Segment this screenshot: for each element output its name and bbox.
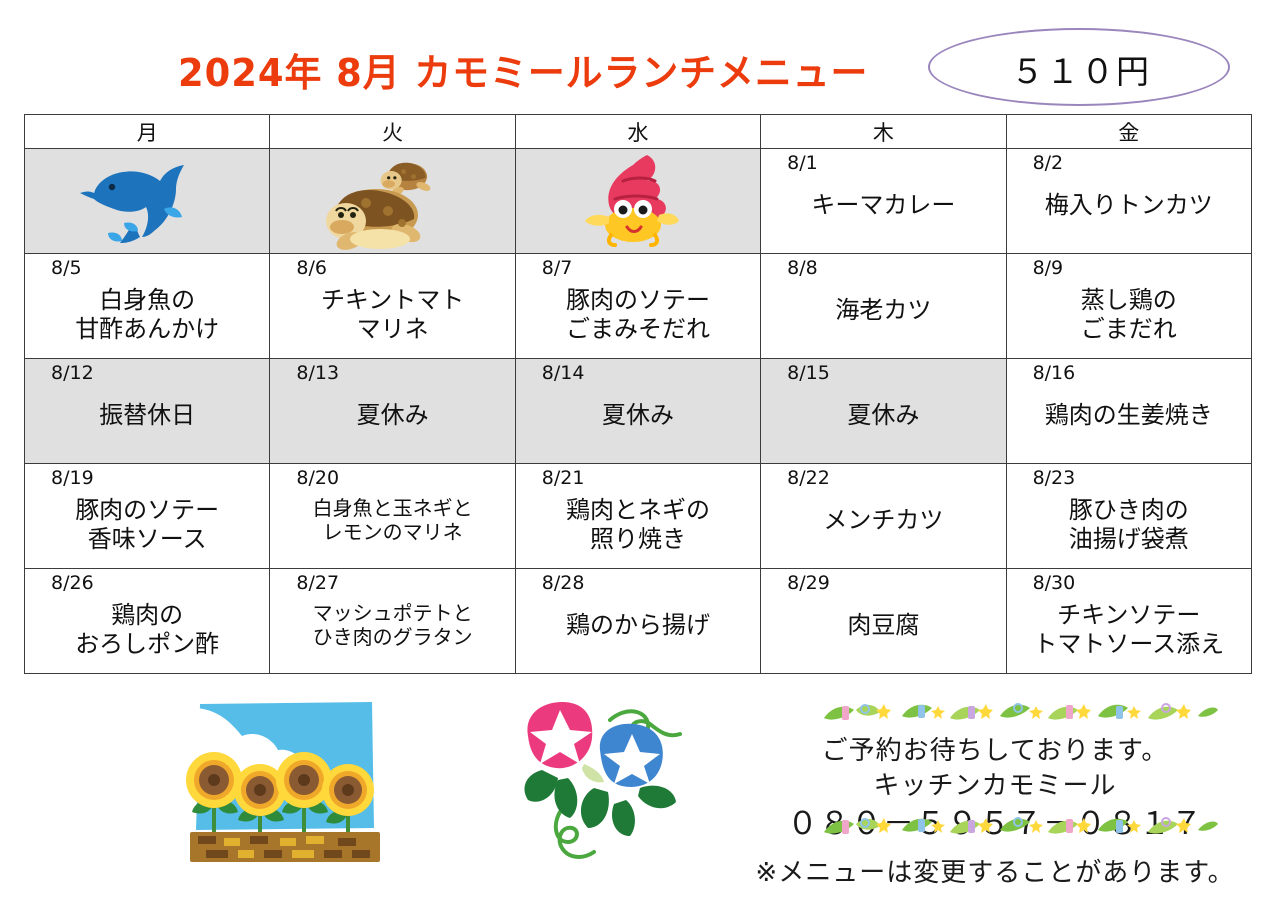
calendar-day-cell: 8/7豚肉のソテーごまみそだれ (515, 254, 760, 359)
menu-line: 照り焼き (520, 525, 756, 554)
menu-line: マリネ (274, 315, 510, 344)
day-date-label: 8/27 (270, 569, 514, 597)
day-menu-label: 豚肉のソテー香味ソース (25, 492, 269, 555)
menu-line: ごまみそだれ (520, 315, 756, 344)
menu-line: 夏休み (274, 401, 510, 430)
calendar-day-cell: 8/2梅入りトンカツ (1006, 149, 1251, 254)
day-date-label: 8/23 (1007, 464, 1251, 492)
reservation-message: ご予約お待ちしております。 (740, 730, 1250, 767)
calendar-day-cell: 8/15夏休み (761, 359, 1006, 464)
calendar-day-cell: 8/29肉豆腐 (761, 569, 1006, 674)
day-menu-label: チキントマトマリネ (270, 282, 514, 345)
day-date-label: 8/12 (25, 359, 269, 387)
day-menu-label: キーマカレー (761, 177, 1005, 220)
day-date-label: 8/20 (270, 464, 514, 492)
dolphin-icon (25, 149, 269, 253)
calendar-day-cell: 8/23豚ひき肉の油揚げ袋煮 (1006, 464, 1251, 569)
calendar-day-cell: 8/22メンチカツ (761, 464, 1006, 569)
morning-glory-illustration (498, 692, 698, 872)
day-menu-label: 白身魚と玉ネギとレモンのマリネ (270, 492, 514, 545)
day-date-label: 8/5 (25, 254, 269, 282)
menu-line: おろしポン酢 (29, 630, 265, 659)
day-date-label: 8/19 (25, 464, 269, 492)
menu-line: 夏休み (520, 401, 756, 430)
calendar-header-row-group: 月 火 水 木 金 (25, 115, 1252, 149)
calendar-day-cell: 8/16鶏肉の生姜焼き (1006, 359, 1251, 464)
calendar-day-cell: 8/28鶏のから揚げ (515, 569, 760, 674)
day-menu-label: 蒸し鶏のごまだれ (1007, 282, 1251, 345)
footer-contact-block: ご予約お待ちしております。 キッチンカモミール ０８０－５９５７－０８１７ (740, 700, 1250, 900)
day-menu-label: 鶏肉のおろしポン酢 (25, 597, 269, 660)
weekday-header-thu: 木 (761, 115, 1006, 149)
day-menu-label: 夏休み (516, 387, 760, 430)
day-menu-label: 海老カツ (761, 282, 1005, 325)
menu-line: 油揚げ袋煮 (1011, 525, 1247, 554)
day-menu-label: マッシュポテトとひき肉のグラタン (270, 597, 514, 650)
calendar-day-cell: 8/14夏休み (515, 359, 760, 464)
day-menu-label: 梅入りトンカツ (1007, 177, 1251, 220)
calendar-week-row: 8/12振替休日8/13夏休み8/14夏休み8/15夏休み8/16鶏肉の生姜焼き (25, 359, 1252, 464)
calendar-week-row: 8/1キーマカレー8/2梅入りトンカツ (25, 149, 1252, 254)
calendar-week-row: 8/5白身魚の甘酢あんかけ8/6チキントマトマリネ8/7豚肉のソテーごまみそだれ… (25, 254, 1252, 359)
menu-line: 豚肉のソテー (29, 496, 265, 525)
menu-line: 鶏のから揚げ (520, 611, 756, 640)
day-menu-label: 豚ひき肉の油揚げ袋煮 (1007, 492, 1251, 555)
menu-line: 鶏肉の生姜焼き (1011, 401, 1247, 430)
menu-line: 甘酢あんかけ (29, 315, 265, 344)
weekday-header-wed: 水 (515, 115, 760, 149)
menu-line: 夏休み (765, 401, 1001, 430)
menu-line: 梅入りトンカツ (1011, 191, 1247, 220)
hermit-crab-icon (516, 149, 760, 253)
day-date-label: 8/2 (1007, 149, 1251, 177)
menu-line: ひき肉のグラタン (274, 625, 510, 649)
menu-line: 鶏肉とネギの (520, 496, 756, 525)
weekday-header-mon: 月 (25, 115, 270, 149)
day-date-label: 8/8 (761, 254, 1005, 282)
calendar-day-cell: 8/19豚肉のソテー香味ソース (25, 464, 270, 569)
tanabata-decoration-top-icon (818, 700, 1218, 726)
sea-turtle-icon (270, 149, 514, 253)
menu-line: 鶏肉の (29, 601, 265, 630)
weekday-header-tue: 火 (270, 115, 515, 149)
menu-line: レモンのマリネ (274, 520, 510, 544)
day-menu-label: 鶏肉とネギの照り焼き (516, 492, 760, 555)
calendar-day-cell: 8/9蒸し鶏のごまだれ (1006, 254, 1251, 359)
menu-line: 肉豆腐 (765, 611, 1001, 640)
day-date-label: 8/14 (516, 359, 760, 387)
day-menu-label: 振替休日 (25, 387, 269, 430)
menu-line: トマトソース添え (1011, 630, 1247, 659)
day-date-label: 8/21 (516, 464, 760, 492)
price-badge-label: ５１０円 (930, 30, 1232, 108)
tanabata-decoration-bottom-icon (818, 814, 1218, 840)
calendar-day-cell: 8/30チキンソテートマトソース添え (1006, 569, 1251, 674)
menu-calendar-table: 月 火 水 木 金 (24, 114, 1252, 674)
calendar-illustration-cell (270, 149, 515, 254)
calendar-week-row: 8/26鶏肉のおろしポン酢8/27マッシュポテトとひき肉のグラタン8/28鶏のか… (25, 569, 1252, 674)
day-date-label: 8/16 (1007, 359, 1251, 387)
menu-line: チキンソテー (1011, 601, 1247, 630)
day-date-label: 8/26 (25, 569, 269, 597)
day-menu-label: 夏休み (270, 387, 514, 430)
menu-line: 豚肉のソテー (520, 286, 756, 315)
menu-line: 振替休日 (29, 401, 265, 430)
menu-line: 白身魚と玉ネギと (274, 496, 510, 520)
shop-name: キッチンカモミール (740, 765, 1250, 802)
calendar-day-cell: 8/21鶏肉とネギの照り焼き (515, 464, 760, 569)
menu-line: ごまだれ (1011, 315, 1247, 344)
menu-line: メンチカツ (765, 506, 1001, 535)
day-menu-label: 肉豆腐 (761, 597, 1005, 640)
menu-line: 海老カツ (765, 296, 1001, 325)
day-menu-label: チキンソテートマトソース添え (1007, 597, 1251, 660)
day-date-label: 8/22 (761, 464, 1005, 492)
calendar-day-cell: 8/1キーマカレー (761, 149, 1006, 254)
menu-line: キーマカレー (765, 191, 1001, 220)
day-menu-label: 鶏肉の生姜焼き (1007, 387, 1251, 430)
calendar-week-row: 8/19豚肉のソテー香味ソース8/20白身魚と玉ネギとレモンのマリネ8/21鶏肉… (25, 464, 1252, 569)
calendar-day-cell: 8/5白身魚の甘酢あんかけ (25, 254, 270, 359)
calendar-day-cell: 8/8海老カツ (761, 254, 1006, 359)
menu-line: 香味ソース (29, 525, 265, 554)
day-menu-label: 豚肉のソテーごまみそだれ (516, 282, 760, 345)
menu-change-note: ※メニューは変更することがあります。 (740, 852, 1250, 889)
price-badge: ５１０円 (928, 28, 1230, 106)
day-date-label: 8/15 (761, 359, 1005, 387)
day-date-label: 8/1 (761, 149, 1005, 177)
calendar-day-cell: 8/26鶏肉のおろしポン酢 (25, 569, 270, 674)
day-date-label: 8/6 (270, 254, 514, 282)
day-date-label: 8/13 (270, 359, 514, 387)
menu-line: チキントマト (274, 286, 510, 315)
day-menu-label: 夏休み (761, 387, 1005, 430)
day-date-label: 8/29 (761, 569, 1005, 597)
calendar-day-cell: 8/6チキントマトマリネ (270, 254, 515, 359)
day-date-label: 8/28 (516, 569, 760, 597)
calendar-header-row: 月 火 水 木 金 (25, 115, 1252, 149)
day-date-label: 8/9 (1007, 254, 1251, 282)
weekday-header-fri: 金 (1006, 115, 1251, 149)
sunflower-field-illustration (160, 698, 410, 868)
menu-line: 白身魚の (29, 286, 265, 315)
day-menu-label: メンチカツ (761, 492, 1005, 535)
calendar-day-cell: 8/13夏休み (270, 359, 515, 464)
page-title: 2024年 8月 カモミールランチメニュー (178, 42, 868, 97)
menu-line: マッシュポテトと (274, 601, 510, 625)
day-date-label: 8/30 (1007, 569, 1251, 597)
calendar-illustration-cell (515, 149, 760, 254)
calendar-day-cell: 8/27マッシュポテトとひき肉のグラタン (270, 569, 515, 674)
calendar-body: 8/1キーマカレー8/2梅入りトンカツ8/5白身魚の甘酢あんかけ8/6チキントマ… (25, 149, 1252, 674)
day-menu-label: 鶏のから揚げ (516, 597, 760, 640)
page-header: 2024年 8月 カモミールランチメニュー ５１０円 (0, 0, 1280, 112)
menu-line: 豚ひき肉の (1011, 496, 1247, 525)
day-date-label: 8/7 (516, 254, 760, 282)
day-menu-label: 白身魚の甘酢あんかけ (25, 282, 269, 345)
menu-line: 蒸し鶏の (1011, 286, 1247, 315)
calendar-day-cell: 8/20白身魚と玉ネギとレモンのマリネ (270, 464, 515, 569)
calendar-illustration-cell (25, 149, 270, 254)
calendar-day-cell: 8/12振替休日 (25, 359, 270, 464)
